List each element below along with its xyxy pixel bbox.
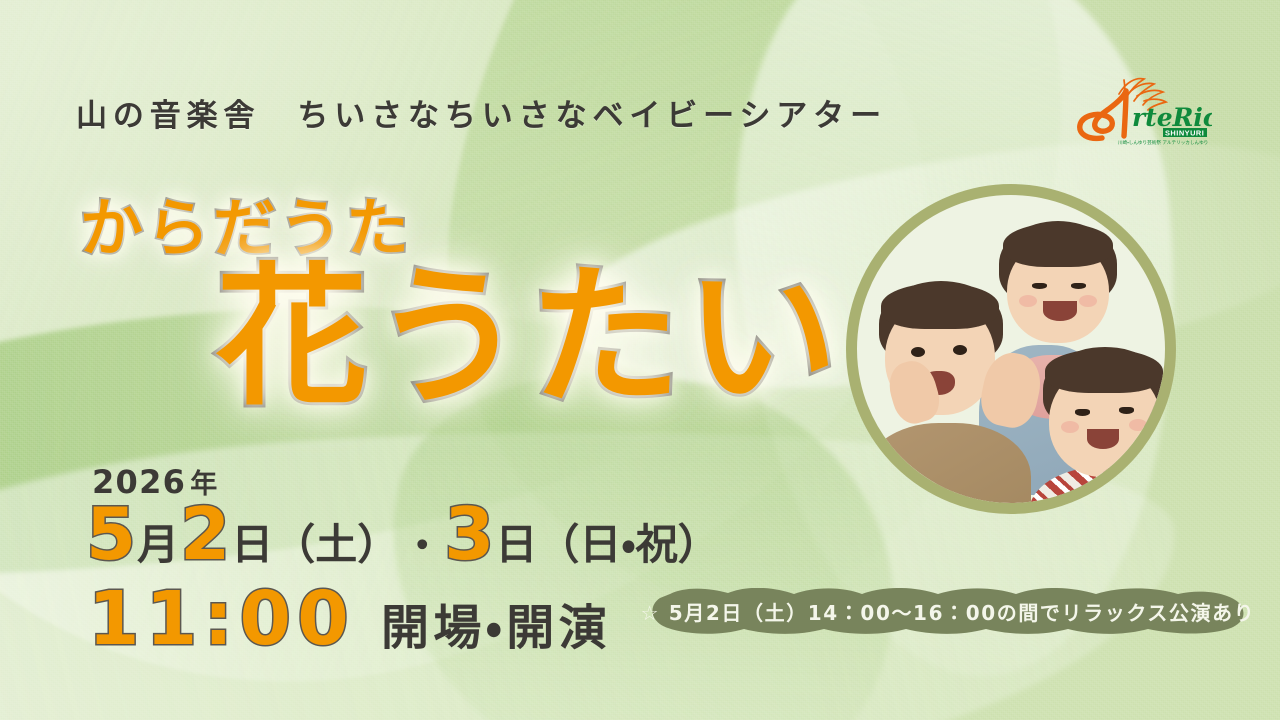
babies-photo bbox=[846, 184, 1176, 514]
logo-sub-ja: 川崎・しんゆり芸術祭 アルテリッカしんゆり bbox=[1118, 139, 1208, 146]
title-main: 花うたい bbox=[216, 262, 842, 414]
arte-ricca-logo[interactable]: rteRicca SHINYURI 川崎・しんゆり芸術祭 アルテリッカしんゆり bbox=[1062, 64, 1212, 150]
month-number: 5 bbox=[86, 500, 136, 568]
svg-text:SHINYURI: SHINYURI bbox=[1165, 129, 1204, 138]
poster-canvas: 山の音楽舎 ちいさなちいさなベイビーシアター rteRicca SHINYURI bbox=[0, 0, 1280, 720]
photo-inner bbox=[857, 195, 1165, 503]
day2-suffix: 日（日・祝） bbox=[495, 525, 719, 565]
day1-number: 2 bbox=[180, 500, 230, 568]
start-time: 11:00 bbox=[88, 582, 355, 656]
time-label: 開場・開演 bbox=[381, 604, 611, 652]
date-line: 5 月 2 日（土） ・ 3 日（日・祝） bbox=[86, 500, 721, 571]
banner-text: ☆ 5月2日（土）14：00〜16：00の間でリラックス公演あり bbox=[648, 588, 1248, 634]
day1-suffix: 日（土） bbox=[231, 525, 399, 565]
month-kanji: 月 bbox=[137, 525, 179, 565]
header-subtitle: 山の音楽舎 ちいさなちいさなベイビーシアター bbox=[76, 90, 887, 135]
relax-performance-banner: ☆ 5月2日（土）14：00〜16：00の間でリラックス公演あり bbox=[648, 588, 1248, 634]
day2-number: 3 bbox=[444, 500, 494, 568]
date-separator: ・ bbox=[402, 513, 442, 571]
time-line: 11:00 開場・開演 bbox=[88, 582, 611, 656]
